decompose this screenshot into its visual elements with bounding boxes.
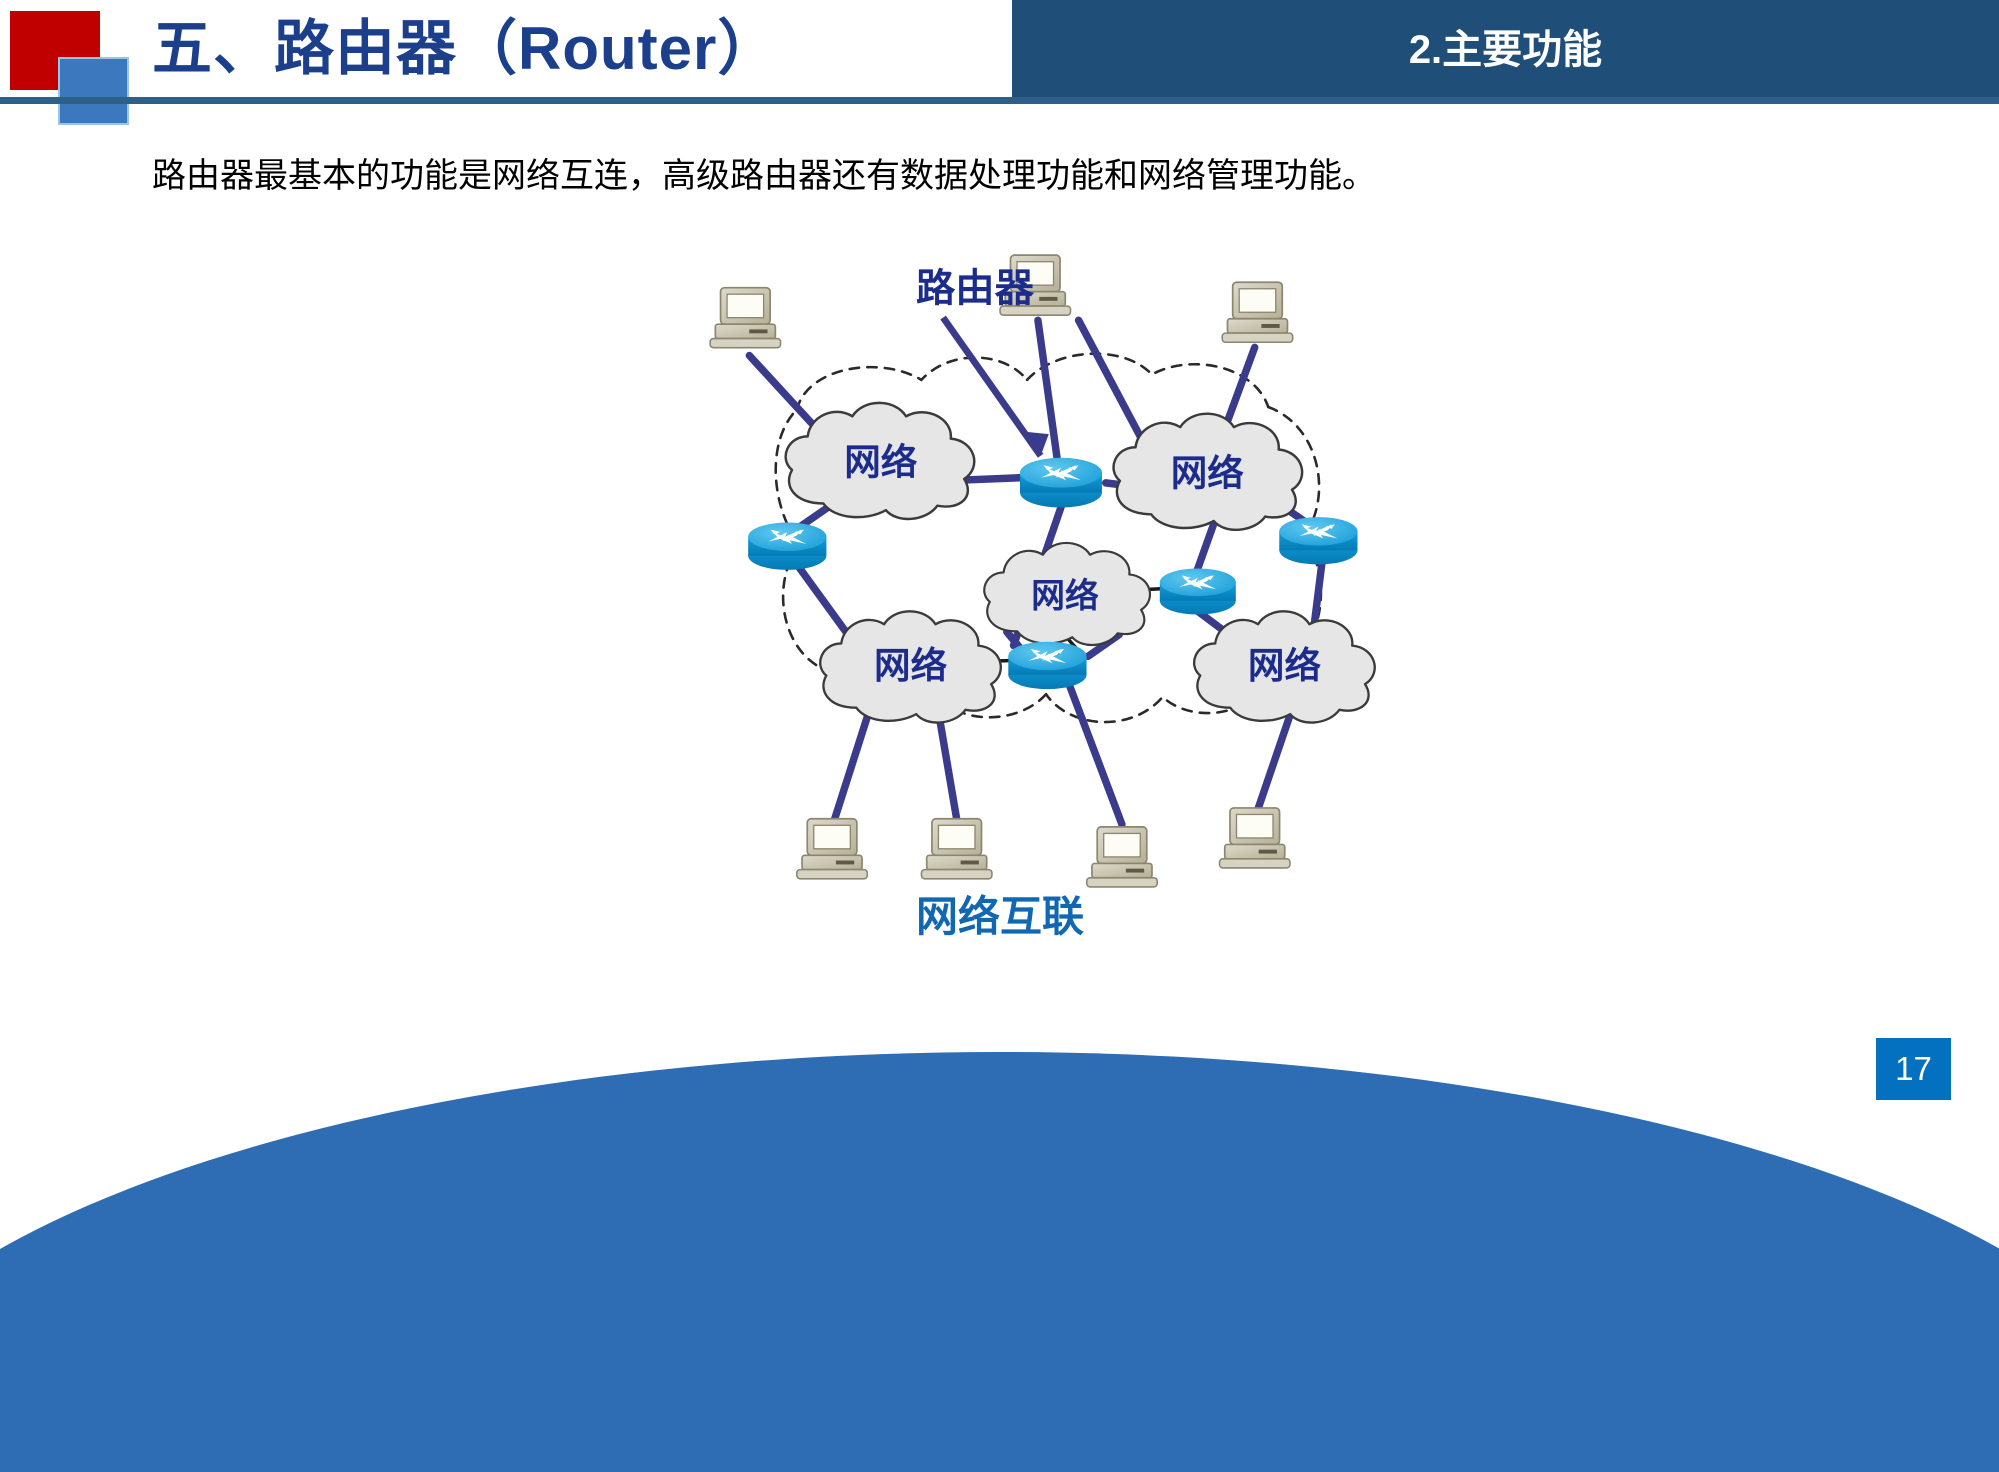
network-interconnection-diagram: 网络 网络 网络 网络 网络 <box>580 215 1420 935</box>
diagram-caption: 网络互联 <box>580 883 1420 944</box>
router-right <box>1279 517 1357 564</box>
cloud-label: 网络 <box>874 645 948 686</box>
footer-arc-decoration <box>0 1052 1999 1472</box>
cloud-label: 网络 <box>1171 453 1245 494</box>
router-mid-right <box>1160 568 1236 614</box>
router-bottom-center <box>1008 642 1086 689</box>
cloud-top-right: 网络 <box>1114 414 1303 530</box>
cloud-center: 网络 <box>984 543 1150 645</box>
decorative-blue-square <box>58 57 129 125</box>
router-left <box>748 523 826 570</box>
cloud-label: 网络 <box>1031 577 1099 616</box>
router-callout-label: 路由器 <box>916 266 1035 310</box>
page-title: 五、路由器（Router） <box>152 3 778 95</box>
router-center-top <box>1020 458 1102 508</box>
section-subtitle: 2.主要功能 <box>1012 0 1999 100</box>
page-number-badge: 17 <box>1876 1038 1951 1100</box>
cloud-bottom-right: 网络 <box>1194 611 1375 722</box>
computer-bottom-3 <box>1087 827 1157 887</box>
cloud-label: 网络 <box>1248 645 1322 686</box>
body-paragraph: 路由器最基本的功能是网络互连，高级路由器还有数据处理功能和网络管理功能。 <box>152 148 1376 197</box>
computer-top-3 <box>1222 282 1292 342</box>
cloud-bottom-left: 网络 <box>820 611 1001 722</box>
cloud-label: 网络 <box>844 442 918 483</box>
computer-bottom-2 <box>921 819 991 879</box>
computer-bottom-4 <box>1220 808 1290 868</box>
computer-top-1 <box>710 288 780 348</box>
computer-bottom-1 <box>797 819 867 879</box>
